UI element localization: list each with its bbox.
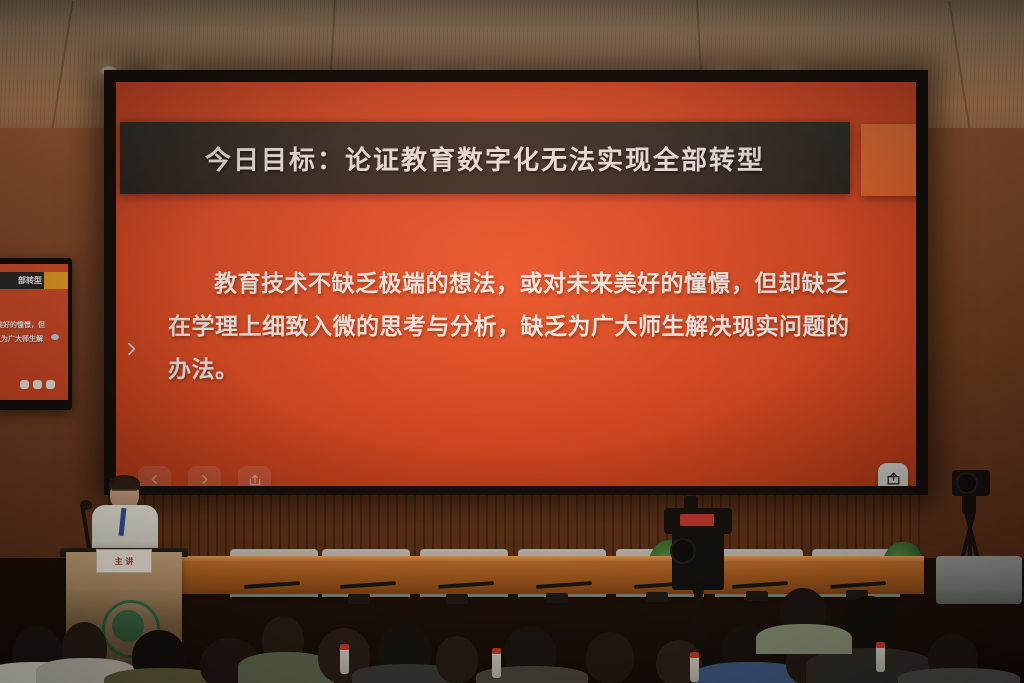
camera-lens: [670, 538, 696, 564]
chevron-left-icon: [148, 473, 161, 486]
share-icon: [886, 471, 901, 486]
podium-microphone: [80, 500, 92, 510]
audience-head: [586, 632, 634, 683]
side-prev-button[interactable]: [33, 380, 42, 389]
speaker-name-card: 主 讲: [96, 549, 152, 573]
audience-shoulders: [756, 624, 852, 654]
camera-mount: [684, 496, 698, 510]
screen-edge-next-arrow[interactable]: [118, 332, 144, 366]
side-monitor-screen[interactable]: 部转型 美好的憧憬，但 乏为广大师生解: [0, 264, 68, 400]
slide-ghost-control-bar[interactable]: [138, 466, 271, 486]
prev-ghost-button[interactable]: [138, 466, 171, 486]
water-bottle: [876, 646, 885, 672]
side-monitor-line-1: 美好的憧憬，但: [0, 320, 45, 330]
water-bottle: [492, 652, 501, 678]
slide-title-bar: 今日目标：论证教育数字化无法实现全部转型: [120, 122, 850, 194]
share-icon: [248, 473, 262, 487]
camera-indicator: [680, 514, 714, 526]
side-monitor-controls[interactable]: [20, 380, 55, 389]
slide-body-text: 教育技术不缺乏极端的想法，或对未来美好的憧憬，但却缺乏在学理上细致入微的思考与分…: [168, 262, 868, 391]
speaker-glasses: [112, 489, 137, 496]
water-bottle-cap: [876, 642, 885, 648]
side-next-button[interactable]: [46, 380, 55, 389]
camera-lens: [956, 472, 978, 494]
camera-mount: [962, 494, 976, 514]
water-bottle-cap: [492, 648, 501, 654]
head-table-edge: [108, 556, 924, 561]
side-monitor-title: 部转型: [0, 272, 44, 289]
slide-accent-block: [861, 124, 916, 196]
slide-control-bar[interactable]: [878, 463, 916, 486]
presentation-screen[interactable]: 今日目标：论证教育数字化无法实现全部转型 教育技术不缺乏极端的想法，或对未来美好…: [116, 82, 916, 486]
chevron-right-icon: [198, 473, 211, 486]
share-button[interactable]: [878, 463, 908, 486]
water-bottle: [340, 648, 349, 674]
speaker-name-card-text: 主 讲: [115, 556, 134, 567]
water-bottle-cap: [690, 652, 699, 658]
chevron-right-icon: [123, 339, 139, 359]
audience-head: [436, 636, 478, 683]
slide-title: 今日目标：论证教育数字化无法实现全部转型: [205, 140, 765, 177]
water-bottle: [690, 656, 699, 682]
conference-hall-photo: 今日目标：论证教育数字化无法实现全部转型 教育技术不缺乏极端的想法，或对未来美好…: [0, 0, 1024, 683]
audience-shoulders: [898, 668, 1020, 683]
side-monitor-line-2: 乏为广大师生解: [0, 334, 43, 344]
share-ghost-button[interactable]: [238, 466, 271, 486]
side-monitor-accent: [44, 272, 68, 289]
next-ghost-button[interactable]: [188, 466, 221, 486]
side-monitor-cursor-icon: [51, 334, 59, 340]
side-share-button[interactable]: [20, 380, 29, 389]
water-bottle-cap: [340, 644, 349, 650]
